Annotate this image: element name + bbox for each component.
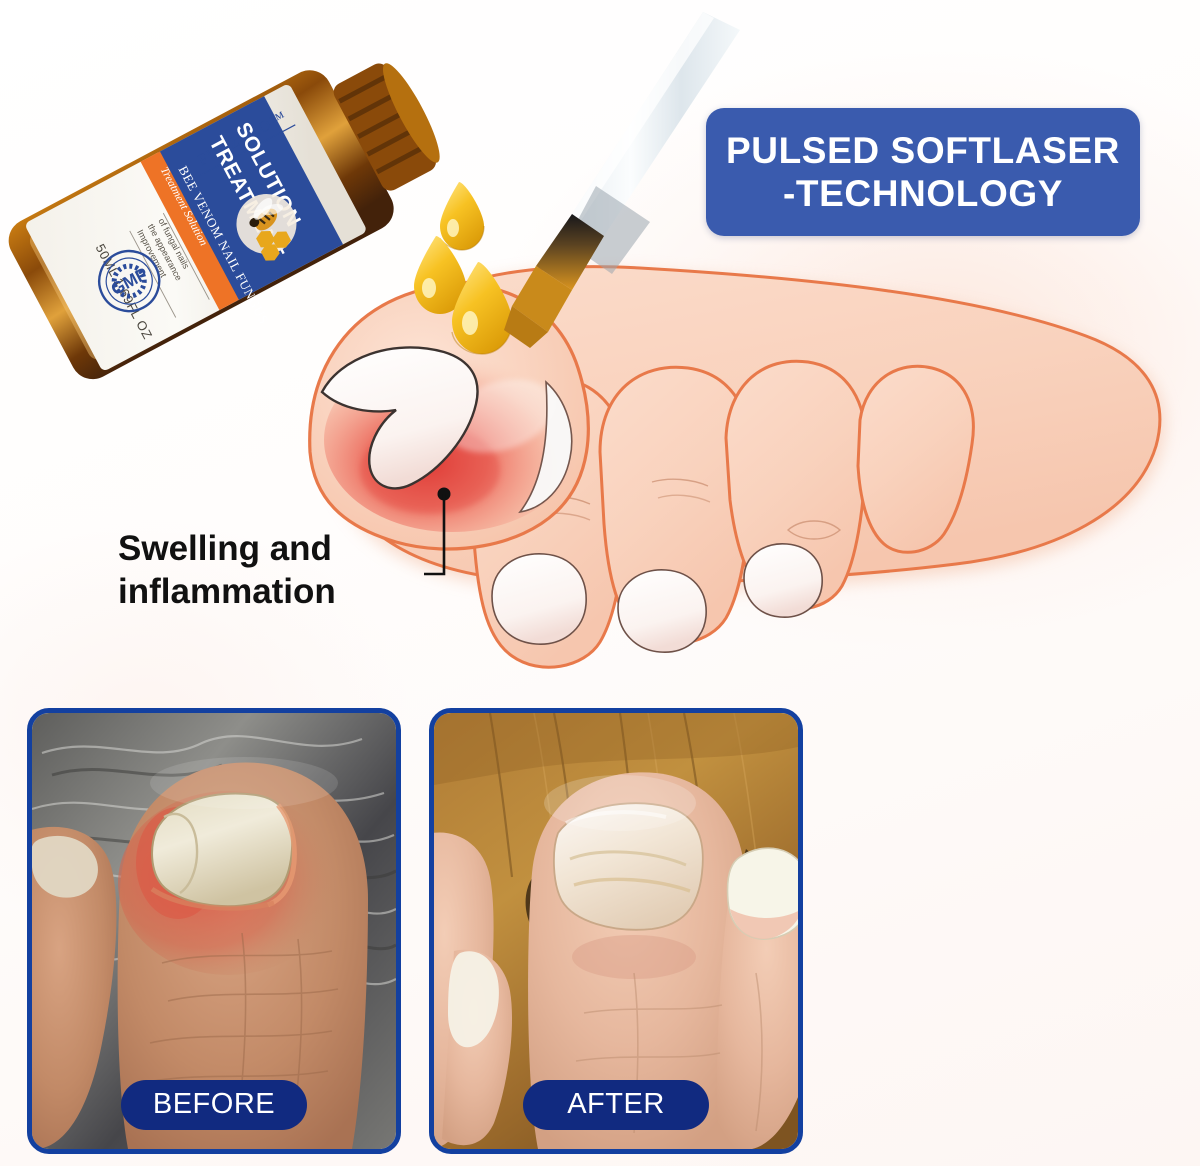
swelling-annotation: Swelling and inflammation bbox=[118, 528, 418, 613]
banner-line-2: -TECHNOLOGY bbox=[783, 172, 1063, 215]
before-photo-frame: BEFORE bbox=[27, 708, 401, 1154]
after-photo-frame: AFTER bbox=[429, 708, 803, 1154]
comparison-section: BEFORE bbox=[0, 700, 1200, 1166]
annotation-line-1: Swelling and bbox=[118, 528, 418, 571]
before-tag: BEFORE bbox=[121, 1080, 307, 1130]
after-tag: AFTER bbox=[523, 1080, 709, 1130]
annotation-line-2: inflammation bbox=[118, 571, 418, 614]
banner-line-1: PULSED SOFTLASER bbox=[726, 129, 1120, 172]
pulsed-softlaser-banner: PULSED SOFTLASER -TECHNOLOGY bbox=[706, 108, 1140, 236]
toe-fourth bbox=[726, 361, 866, 617]
advertisement-page: FURZERO™ BEE VENOM NAIL FUNGUS TREATMENT… bbox=[0, 0, 1200, 1166]
hero-section: FURZERO™ BEE VENOM NAIL FUNGUS TREATMENT… bbox=[0, 0, 1200, 700]
